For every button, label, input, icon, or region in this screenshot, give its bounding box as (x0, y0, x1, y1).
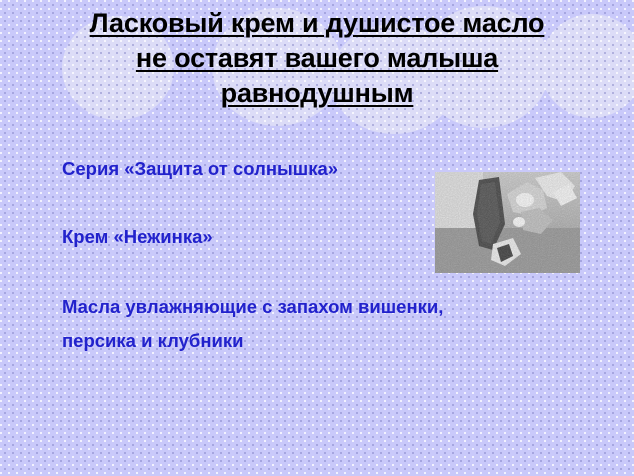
body-paragraph-series: Серия «Защита от солнышка» (62, 152, 338, 186)
photo-graphic (435, 172, 580, 273)
photo-image (435, 172, 580, 273)
body-paragraph-oils-line-2: персика и клубники (62, 330, 244, 351)
title-line-2: не оставят вашего малыша (40, 41, 594, 76)
slide-title: Ласковый крем и душистое масло не оставя… (40, 6, 594, 111)
body-paragraph-oils-line-1: Масла увлажняющие с запахом вишенки, (62, 296, 443, 317)
slide-content: Ласковый крем и душистое масло не оставя… (0, 0, 634, 476)
presentation-slide: Ласковый крем и душистое масло не оставя… (0, 0, 634, 476)
body-paragraph-cream: Крем «Нежинка» (62, 220, 213, 254)
body-paragraph-oils: Масла увлажняющие с запахом вишенки, пер… (62, 290, 562, 358)
title-line-1: Ласковый крем и душистое масло (40, 6, 594, 41)
title-line-3: равнодушным (40, 76, 594, 111)
